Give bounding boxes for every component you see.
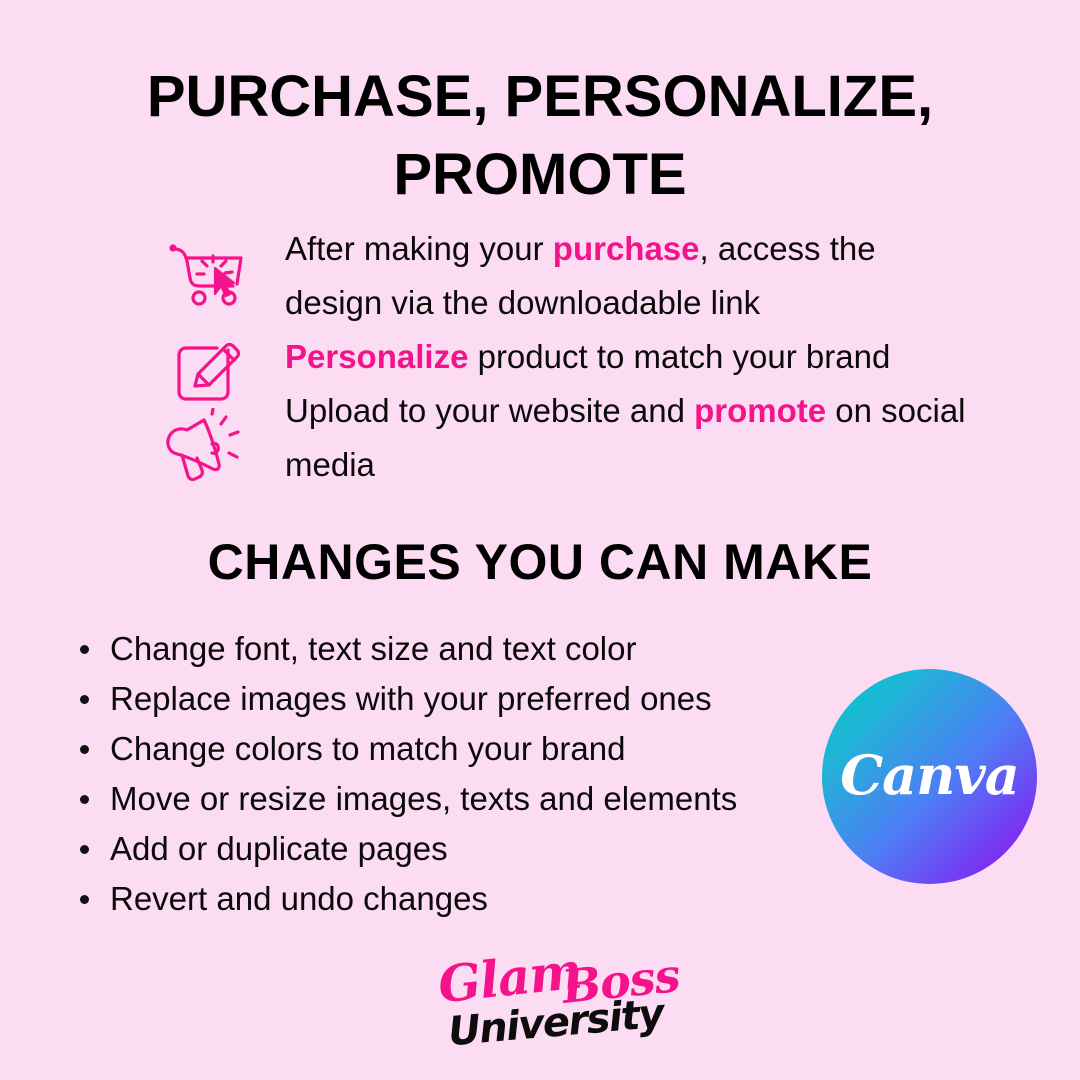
list-item-label: Change colors to match your brand [110,730,625,767]
section-subheading: CHANGES YOU CAN MAKE [60,533,1020,591]
list-item-label: Change font, text size and text color [110,630,636,667]
bullet-dot-icon [80,745,89,754]
list-item-label: Move or resize images, texts and element… [110,780,737,817]
step-1-highlight: purchase [553,230,700,267]
step-3-highlight: promote [694,392,826,429]
steps-section: After making your purchase, access the d… [0,222,1080,512]
list-item: Change colors to match your brand [74,724,834,774]
bullet-dot-icon [80,845,89,854]
step-2-after: product to match your brand [468,338,890,375]
list-item: Change font, text size and text color [74,624,834,674]
page-title: PURCHASE, PERSONALIZE, PROMOTE [110,58,970,215]
canva-logo-badge: Canva [822,669,1037,884]
canva-wordmark: Canva [840,743,1019,807]
step-line-2: Personalize product to match your brand [285,330,975,384]
megaphone-icon [157,408,249,488]
step-line-1: After making your purchase, access the d… [285,222,975,330]
bullet-dot-icon [80,645,89,654]
list-item-label: Replace images with your preferred ones [110,680,712,717]
step-2-highlight: Personalize [285,338,468,375]
shopping-cart-click-icon [163,236,255,316]
step-line-3: Upload to your website and promote on so… [285,384,975,492]
list-item: Replace images with your preferred ones [74,674,834,724]
changes-list: Change font, text size and text color Re… [74,624,834,924]
steps-text-column: After making your purchase, access the d… [285,222,975,492]
bullet-dot-icon [80,795,89,804]
bullet-dot-icon [80,895,89,904]
list-item: Add or duplicate pages [74,824,834,874]
pencil-edit-icon [165,330,257,410]
list-item: Move or resize images, texts and element… [74,774,834,824]
bullet-dot-icon [80,695,89,704]
poster-canvas: PURCHASE, PERSONALIZE, PROMOTE [0,0,1080,1080]
list-item-label: Revert and undo changes [110,880,488,917]
step-3-before: Upload to your website and [285,392,694,429]
steps-icon-column [155,222,265,512]
brand-logo: Glam Boss University [430,948,670,1058]
step-1-before: After making your [285,230,553,267]
list-item-label: Add or duplicate pages [110,830,448,867]
list-item: Revert and undo changes [74,874,834,924]
